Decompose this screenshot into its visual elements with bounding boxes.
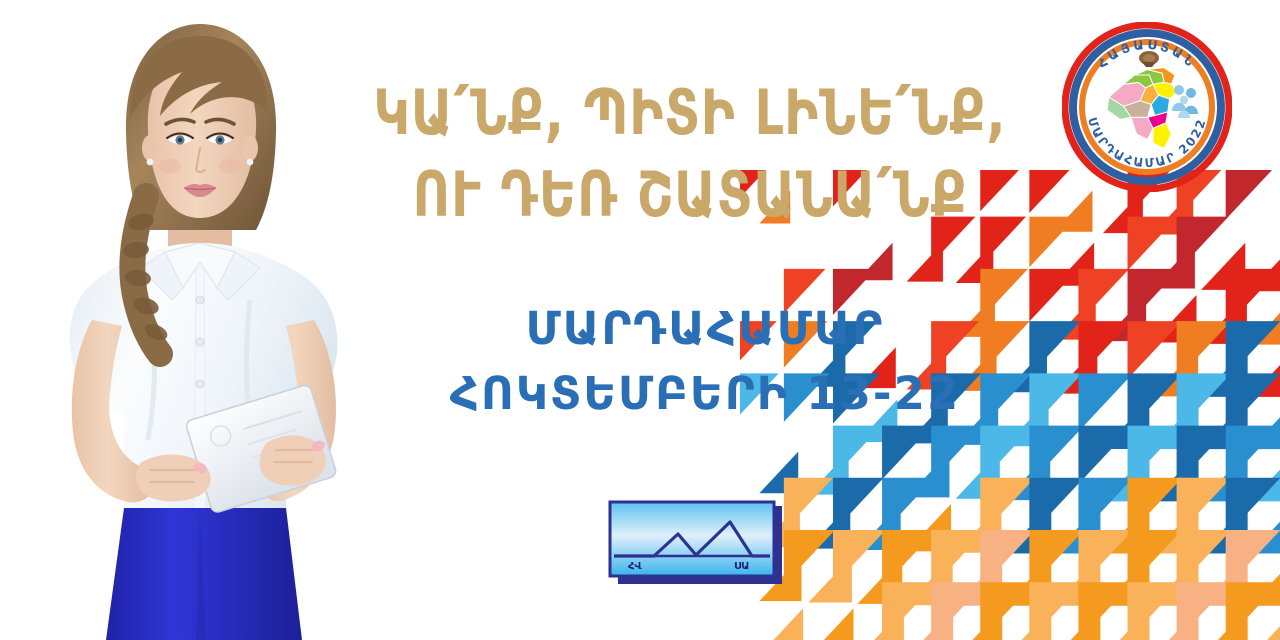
- mosaic-triangle: [1029, 426, 1084, 484]
- mosaic-triangle: [1201, 243, 1245, 290]
- mosaic-triangle: [1054, 608, 1101, 640]
- mosaic-triangle: [858, 608, 904, 640]
- mosaic-triangle: [833, 530, 886, 586]
- mosaic-triangle: [1226, 530, 1280, 588]
- mosaic-triangle: [931, 530, 986, 588]
- mosaic-triangle: [1005, 556, 1052, 606]
- mosaic-triangle: [1005, 452, 1050, 500]
- mosaic-triangle: [1103, 191, 1143, 234]
- mosaic-triangle: [1029, 582, 1084, 640]
- mosaic-triangle: [1152, 556, 1199, 606]
- mosaic-triangle: [1201, 347, 1248, 397]
- mosaic-triangle: [882, 426, 932, 480]
- mosaic-triangle: [1226, 478, 1280, 536]
- subheading-line-2: ՀՈԿՏԵՄԲԵՐԻ 13-22: [360, 361, 1050, 426]
- mosaic-triangle: [1128, 582, 1183, 640]
- mosaic-triangle: [784, 530, 835, 585]
- mosaic-triangle: [1226, 373, 1280, 431]
- mosaic-triangle: [808, 452, 848, 495]
- mosaic-triangle: [1177, 373, 1232, 431]
- mosaic-triangle: [1226, 269, 1280, 327]
- mosaic-triangle: [1250, 295, 1280, 345]
- mosaic-triangle: [1054, 243, 1094, 286]
- mosaic-triangle: [784, 478, 833, 531]
- mosaic-triangle: [833, 426, 882, 478]
- mosaic-triangle: [1250, 556, 1280, 606]
- mosaic-triangle: [1152, 452, 1199, 502]
- mosaic-triangle: [1226, 321, 1280, 379]
- logo-label-right: ՍԱ: [734, 561, 749, 572]
- headline-line-2: ՈՒ ԴԵՌ ՇԱՏԱՆԱ՛ՆՔ: [359, 154, 1021, 236]
- mosaic-triangle: [882, 530, 936, 588]
- mosaic-triangle: [931, 426, 983, 481]
- mosaic-triangle: [907, 243, 943, 282]
- mosaic-triangle: [1201, 556, 1248, 606]
- mosaic-triangle: [1250, 608, 1280, 640]
- mosaic-triangle: [956, 243, 994, 283]
- mosaic-triangle: [907, 608, 954, 640]
- mosaic-triangle: [1250, 243, 1280, 291]
- mosaic-triangle: [858, 556, 903, 604]
- mosaic-triangle: [1201, 295, 1247, 344]
- mosaic-triangle: [1029, 530, 1084, 588]
- mosaic-triangle: [1103, 295, 1146, 341]
- mosaic-triangle: [956, 452, 1000, 499]
- mosaic-triangle: [907, 556, 953, 605]
- mosaic-triangle: [1152, 243, 1195, 289]
- mosaic-triangle: [1029, 478, 1084, 536]
- mosaic-triangle: [1103, 608, 1150, 640]
- mosaic-triangle: [759, 452, 798, 494]
- mosaic-triangle: [1078, 530, 1133, 588]
- mosaic-triangle: [1177, 321, 1232, 379]
- mosaic-triangle: [1078, 582, 1133, 640]
- mosaic-triangle: [907, 504, 951, 551]
- headline-line-1: ԿԱ՛ՆՔ, ՊԻՏԻ ԼԻՆԵ՛ՆՔ,: [359, 72, 1021, 154]
- mosaic-triangle: [1128, 530, 1183, 588]
- mosaic-triangle: [1054, 295, 1096, 340]
- mosaic-triangle: [1103, 452, 1150, 502]
- mosaic-triangle: [1152, 399, 1199, 449]
- mosaic-triangle: [1078, 269, 1129, 323]
- mosaic-triangle: [1177, 530, 1232, 588]
- mosaic-triangle: [980, 582, 1035, 640]
- mosaic-triangle: [980, 426, 1033, 483]
- mosaic-triangle: [1128, 426, 1183, 484]
- mosaic-triangle: [1103, 504, 1150, 554]
- mosaic-triangle: [1152, 347, 1198, 396]
- mosaic-triangle: [1152, 191, 1193, 235]
- mosaic-triangle: [1177, 217, 1229, 272]
- mosaic-triangle: [907, 452, 950, 498]
- mosaic-triangle: [956, 608, 1003, 640]
- mosaic-triangle: [1250, 452, 1280, 502]
- mosaic-triangle: [1177, 426, 1232, 484]
- mosaic-triangle: [833, 478, 884, 532]
- mosaic-triangle: [1078, 478, 1133, 536]
- mosaic-triangle: [1177, 478, 1232, 536]
- statistical-committee-logo: ՀՎ ՍԱ: [606, 498, 786, 590]
- mosaic-triangle: [1201, 608, 1248, 640]
- mosaic-triangle: [759, 608, 803, 640]
- logo-label-left: ՀՎ: [628, 561, 643, 572]
- mosaic-triangle: [956, 556, 1003, 606]
- mosaic-triangle: [858, 504, 901, 550]
- mosaic-triangle: [1152, 504, 1199, 554]
- mosaic-triangle: [808, 556, 851, 602]
- mosaic-triangle: [1250, 399, 1280, 449]
- mosaic-triangle: [1128, 217, 1178, 271]
- mosaic-triangle: [1103, 556, 1150, 606]
- mosaic-triangle: [1054, 556, 1101, 606]
- mosaic-triangle: [1005, 504, 1052, 554]
- mosaic-triangle: [1078, 426, 1133, 484]
- mosaic-triangle: [1103, 399, 1149, 449]
- mosaic-triangle: [1201, 452, 1248, 502]
- mosaic-triangle: [1005, 608, 1052, 640]
- mosaic-triangle: [858, 243, 893, 280]
- mosaic-triangle: [808, 608, 853, 640]
- mosaic-triangle: [808, 504, 850, 549]
- mosaic-triangle: [882, 582, 937, 640]
- headline-slogan: ԿԱ՛ՆՔ, ՊԻՏԻ ԼԻՆԵ՛ՆՔ, ՈՒ ԴԵՌ ՇԱՏԱՆԱ՛ՆՔ: [330, 72, 1050, 236]
- mosaic-triangle: [980, 530, 1035, 588]
- mosaic-triangle: [1250, 347, 1280, 397]
- mosaic-triangle: [1226, 582, 1280, 640]
- mosaic-triangle: [1054, 504, 1101, 554]
- subheading-census-dates: ՄԱՐԴԱՀԱՄԱՐ ՀՈԿՏԵՄԲԵՐԻ 13-22: [360, 296, 1050, 427]
- mosaic-triangle: [1054, 347, 1097, 393]
- mosaic-triangle: [1226, 426, 1280, 484]
- mosaic-triangle: [1128, 269, 1180, 325]
- mosaic-triangle: [1128, 478, 1183, 536]
- mosaic-triangle: [1152, 608, 1199, 640]
- mosaic-triangle: [1177, 582, 1232, 640]
- census-seal-logo: ՀԱՅԱՍՏԱՆ ՄԱՐԴԱՀԱՄԱՐ 2022: [1062, 22, 1232, 192]
- mosaic-triangle: [980, 478, 1035, 536]
- mosaic-triangle: [1078, 321, 1131, 377]
- mosaic-triangle: [1201, 399, 1248, 449]
- mosaic-triangle: [1128, 373, 1183, 431]
- mosaic-triangle: [1078, 373, 1133, 431]
- subheading-line-1: ՄԱՐԴԱՀԱՄԱՐ: [360, 296, 1050, 361]
- mosaic-triangle: [931, 582, 986, 640]
- mosaic-triangle: [1054, 191, 1093, 232]
- mosaic-triangle: [1152, 295, 1196, 342]
- mosaic-triangle: [1128, 321, 1182, 379]
- mosaic-triangle: [1201, 504, 1248, 554]
- mosaic-triangle: [1226, 170, 1278, 219]
- census-banner: ԿԱ՛ՆՔ, ՊԻՏԻ ԼԻՆԵ՛ՆՔ, ՈՒ ԴԵՌ ՇԱՏԱՆԱ՛ՆՔ ՄԱ…: [0, 0, 1280, 640]
- mosaic-triangle: [956, 504, 1002, 553]
- mosaic-triangle: [1250, 504, 1280, 554]
- mosaic-triangle: [882, 478, 934, 534]
